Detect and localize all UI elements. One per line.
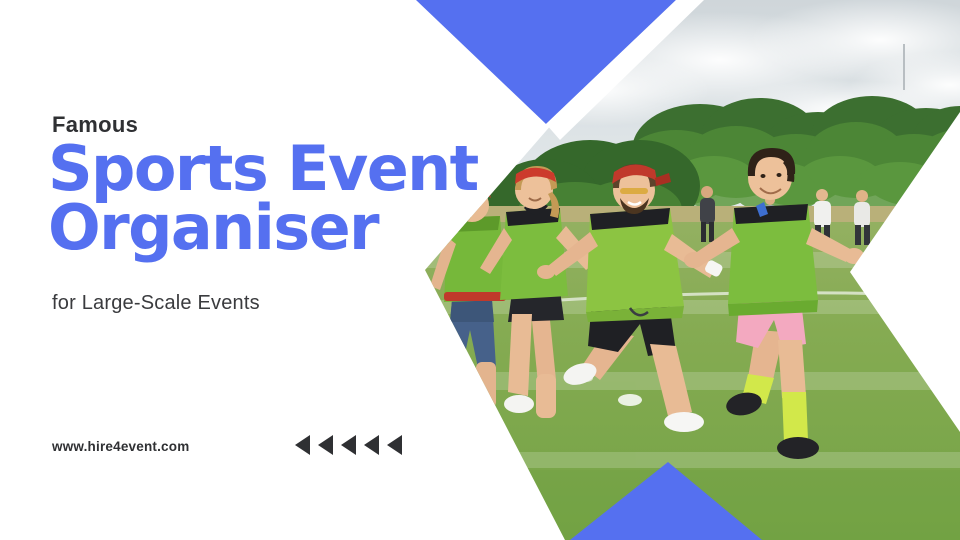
promo-banner: Famous Sports Event Organiser for Large-… — [0, 0, 960, 540]
triangle-left-icon — [364, 435, 379, 455]
page-title: Sports Event Organiser — [48, 140, 518, 258]
triangle-left-icon — [295, 435, 310, 455]
triangle-left-icon — [387, 435, 402, 455]
footer-row: www.hire4event.com — [52, 432, 452, 460]
website-url[interactable]: www.hire4event.com — [52, 439, 189, 454]
triangle-left-icon — [318, 435, 333, 455]
arrow-decoration-group — [295, 435, 402, 455]
subtitle-text: for Large-Scale Events — [52, 292, 260, 315]
triangle-left-icon — [341, 435, 356, 455]
